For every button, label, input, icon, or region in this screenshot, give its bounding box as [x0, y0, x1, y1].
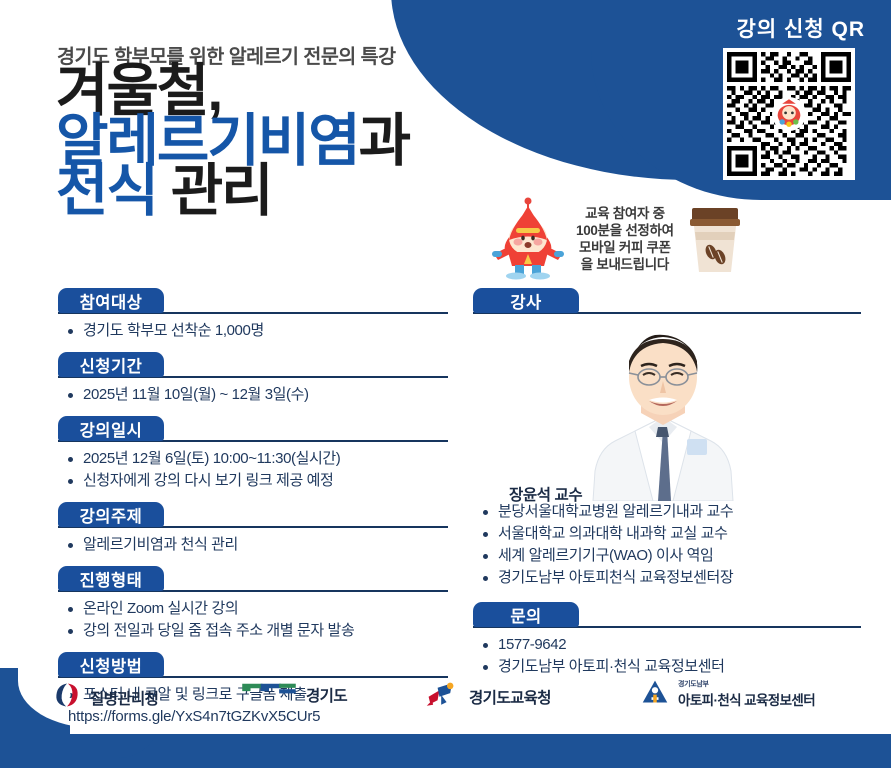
poster: 경기도 학부모를 위한 알레르기 전문의 특강 겨울철, 알레르기비염과 천식 … [0, 0, 891, 768]
promo-line-4: 을 보내드립니다 [576, 256, 674, 273]
section-header: 참여대상 [58, 288, 448, 315]
section-items: 경기도 학부모 선착순 1,000명 [66, 320, 448, 342]
list-item: 1577-9642 [481, 634, 861, 656]
list-item: 2025년 12월 6일(토) 10:00~11:30(실시간) [66, 448, 448, 470]
section-header: 강의일시 [58, 416, 448, 443]
logo-kdca: 질병관리청 [52, 680, 158, 715]
section-contact: 문의 1577-9642 경기도남부 아토피·천식 교육정보센터 [473, 602, 861, 678]
list-item: 강의 전일과 당일 줌 접속 주소 개별 문자 발송 [66, 620, 448, 642]
section-application-period: 신청기간 2025년 11월 10일(월) ~ 12월 3일(수) [58, 352, 448, 406]
section-items: 2025년 12월 6일(토) 10:00~11:30(실시간) 신청자에게 강… [66, 448, 448, 492]
logo-gyeonggi: 경기도 [240, 680, 347, 709]
section-badge: 강의주제 [58, 502, 164, 527]
footer-logos: 질병관리청 경기도 [0, 672, 891, 724]
list-item: 알레르기비염과 천식 관리 [66, 534, 448, 556]
logo-sublabel: 경기도남부 [678, 679, 815, 689]
section-badge: 강의일시 [58, 416, 164, 441]
logo-label: 아토피·천식 교육정보센터 [678, 693, 815, 708]
gyeonggi-edu-logo-icon [425, 680, 461, 713]
section-items: 알레르기비염과 천식 관리 [66, 534, 448, 556]
logo-gyeonggi-education: 경기도교육청 [425, 680, 551, 713]
section-format: 진행형태 온라인 Zoom 실시간 강의 강의 전일과 당일 줌 접속 주소 개… [58, 566, 448, 642]
logo-label: 경기도 [306, 684, 347, 706]
section-instructor: 강사 [473, 288, 861, 589]
qr-label: 강의 신청 QR [737, 13, 865, 43]
qr-center-mascot-icon [772, 97, 806, 131]
section-items: 2025년 11월 10일(월) ~ 12월 3일(수) [66, 384, 448, 406]
poster-title: 겨울철, 알레르기비염과 천식 관리 [56, 66, 409, 216]
coffee-cup-icon [686, 202, 744, 276]
section-items: 온라인 Zoom 실시간 강의 강의 전일과 당일 줌 접속 주소 개별 문자 … [66, 598, 448, 642]
list-item: 경기도 학부모 선착순 1,000명 [66, 320, 448, 342]
section-badge: 문의 [473, 602, 579, 627]
section-badge: 진행형태 [58, 566, 164, 591]
promo-text: 교육 참여자 중 100분을 선정하여 모바일 커피 쿠폰 을 보내드립니다 [576, 205, 674, 273]
title-line-2-rest: 과 [359, 109, 409, 173]
logo-label: 경기도교육청 [469, 686, 551, 708]
details-column-left: 참여대상 경기도 학부모 선착순 1,000명 신청기간 2025년 11월 1… [58, 288, 448, 728]
details-column-right: 강사 [473, 288, 861, 678]
section-header: 진행형태 [58, 566, 448, 593]
kdca-logo-icon [52, 680, 82, 715]
coffee-promo: 교육 참여자 중 100분을 선정하여 모바일 커피 쿠폰 을 보내드립니다 [492, 196, 744, 282]
section-header: 강의주제 [58, 502, 448, 529]
list-item: 신청자에게 강의 다시 보기 링크 제공 예정 [66, 470, 448, 492]
section-header: 강사 [473, 288, 861, 315]
title-line-3-rest: 관리 [157, 159, 272, 223]
section-badge: 참여대상 [58, 288, 164, 313]
logo-atopy-center: 경기도남부 아토피·천식 교육정보센터 [640, 678, 815, 711]
logo-label: 질병관리청 [90, 687, 158, 709]
promo-line-2: 100분을 선정하여 [576, 222, 674, 239]
list-item: 2025년 11월 10일(월) ~ 12월 3일(수) [66, 384, 448, 406]
gyeonggi-logo-icon [240, 680, 298, 709]
section-header: 신청기간 [58, 352, 448, 379]
section-header: 문의 [473, 602, 861, 629]
list-item: 분당서울대학교병원 알레르기내과 교수 [481, 501, 861, 523]
promo-line-1: 교육 참여자 중 [576, 205, 674, 222]
section-lecture-topic: 강의주제 알레르기비염과 천식 관리 [58, 502, 448, 556]
section-participants: 참여대상 경기도 학부모 선착순 1,000명 [58, 288, 448, 342]
qr-code[interactable] [723, 48, 855, 180]
list-item: 온라인 Zoom 실시간 강의 [66, 598, 448, 620]
instructor-photo [563, 321, 763, 501]
atopy-center-logo-icon [640, 678, 670, 711]
list-item: 서울대학교 의과대학 내과학 교실 교수 [481, 523, 861, 545]
list-item: 세계 알레르기기구(WAO) 이사 역임 [481, 545, 861, 567]
instructor-credentials: 분당서울대학교병원 알레르기내과 교수 서울대학교 의과대학 내과학 교실 교수… [481, 501, 861, 589]
logo-label-group: 경기도남부 아토피·천식 교육정보센터 [678, 679, 815, 710]
section-badge: 강사 [473, 288, 579, 313]
title-line-3-highlight: 천식 [56, 159, 157, 223]
list-item: 경기도남부 아토피천식 교육정보센터장 [481, 567, 861, 589]
title-line-3: 천식 관리 [56, 166, 409, 216]
section-lecture-datetime: 강의일시 2025년 12월 6일(토) 10:00~11:30(실시간) 신청… [58, 416, 448, 492]
section-badge: 신청기간 [58, 352, 164, 377]
instructor-photo-wrap: 장윤석 교수 [473, 321, 861, 501]
promo-line-3: 모바일 커피 쿠폰 [576, 239, 674, 256]
mascot-character-icon [492, 196, 564, 282]
